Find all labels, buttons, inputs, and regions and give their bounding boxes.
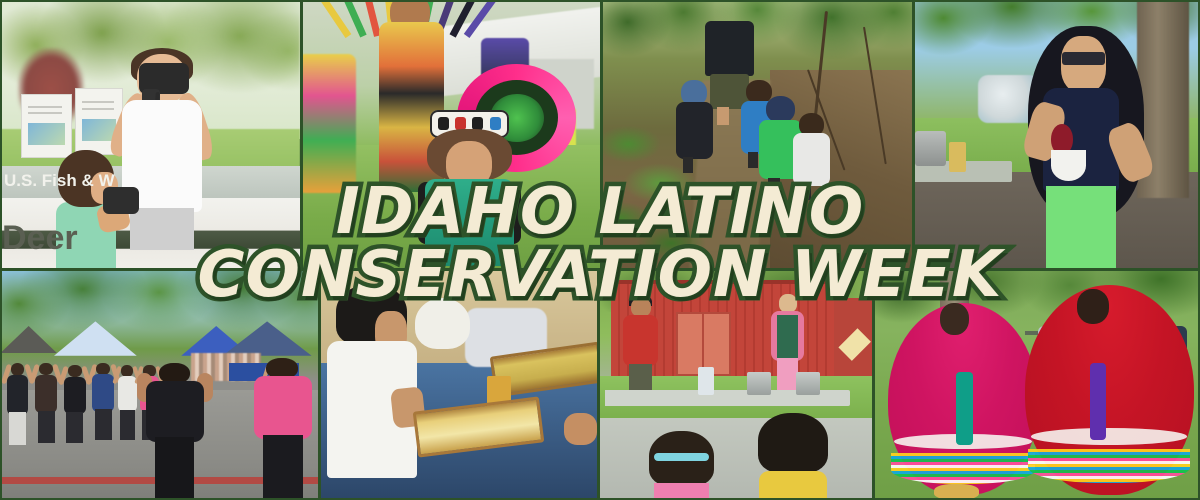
idaho-latino-conservation-week-banner: U.S. Fish & W Deer — [0, 0, 1200, 500]
photo-collage: U.S. Fish & W Deer — [0, 0, 1200, 500]
photo-food-serving — [915, 0, 1200, 268]
photo-barn-demo — [600, 271, 872, 500]
booth-banner-text-2: Deer — [0, 209, 300, 268]
photo-nature-hike — [603, 0, 912, 268]
photo-beekeeping — [321, 271, 597, 500]
photo-aztec-dancers — [303, 0, 600, 268]
photo-folklorico — [875, 271, 1200, 500]
photo-zumba-class — [0, 271, 318, 500]
photo-binoculars: U.S. Fish & W Deer — [0, 0, 300, 268]
booth-banner-text-1: U.S. Fish & W — [0, 164, 300, 199]
